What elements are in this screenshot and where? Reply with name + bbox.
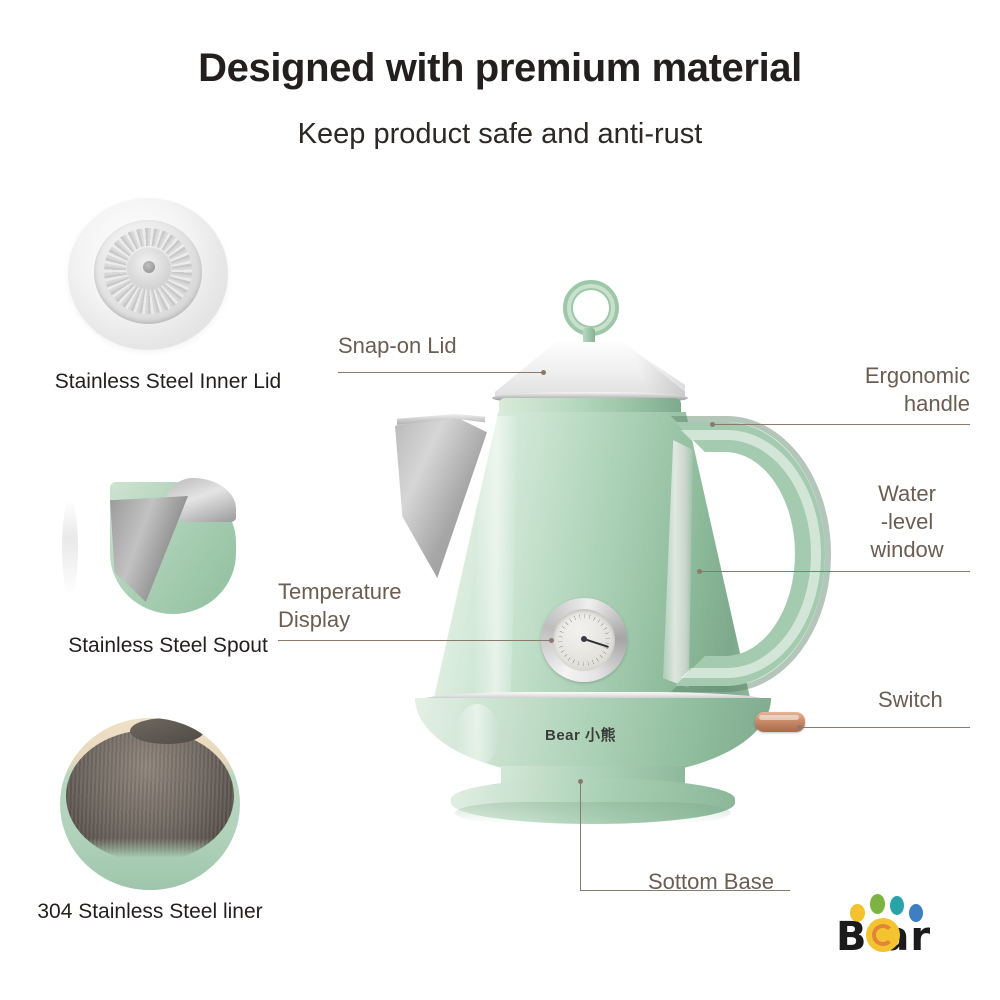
paw-pad-green-icon (870, 894, 885, 914)
liner-image (60, 718, 240, 890)
bear-brand-logo: B ar (836, 892, 976, 960)
leader-dot-ergonomic-handle (710, 422, 715, 427)
feature-caption-liner: 304 Stainless Steel liner (10, 898, 290, 925)
liner-rim-highlight (130, 718, 204, 744)
kettle-base-shadow (455, 802, 731, 824)
callout-snap-on-lid: Snap-on Lid (338, 332, 457, 360)
lid-ring-highlight (567, 284, 615, 332)
callout-ergonomic-handle: Ergonomic handle (770, 362, 970, 418)
feature-caption-inner-lid: Stainless Steel Inner Lid (28, 368, 308, 395)
product-infographic: Designed with premium material Keep prod… (0, 0, 1000, 1000)
body-brand-mark: Bear 小熊 (545, 724, 616, 745)
spout-image (58, 478, 248, 618)
leader-line-snap-on-lid (338, 372, 543, 373)
feature-caption-spout: Stainless Steel Spout (28, 632, 308, 659)
page-title: Designed with premium material (0, 46, 1000, 91)
inner-lid-hub (143, 261, 155, 273)
leader-line-temperature-display (278, 640, 551, 641)
callout-bottom-base: Sottom Base (648, 868, 774, 896)
spout-highlight (62, 500, 78, 596)
callout-switch: Switch (878, 686, 943, 714)
leader-dot-snap-on-lid (541, 370, 546, 375)
inner-lid-image (68, 198, 228, 350)
leader-dot-switch (797, 725, 802, 730)
temperature-gauge-pin (581, 636, 587, 642)
kettle-bulb-highlight (455, 704, 499, 766)
callout-water-level-window: Water -level window (844, 480, 970, 564)
callout-temperature-display: Temperature Display (278, 578, 402, 634)
paw-pad-teal-icon (890, 896, 904, 915)
leader-line-ergonomic-handle (712, 424, 970, 425)
bear-logo-e-spiral (872, 924, 894, 946)
leader-dot-water-level-window (697, 569, 702, 574)
leader-line-switch (800, 727, 970, 728)
power-switch-highlight (759, 715, 799, 720)
leader-line-bottom-base-vertical (580, 781, 581, 891)
liner-green-band (60, 838, 240, 890)
leader-line-water-level-window (700, 571, 970, 572)
page-subtitle: Keep product safe and anti-rust (0, 118, 1000, 151)
kettle-product-image: Bear 小熊 (395, 280, 865, 800)
leader-dot-temperature-display (549, 638, 554, 643)
